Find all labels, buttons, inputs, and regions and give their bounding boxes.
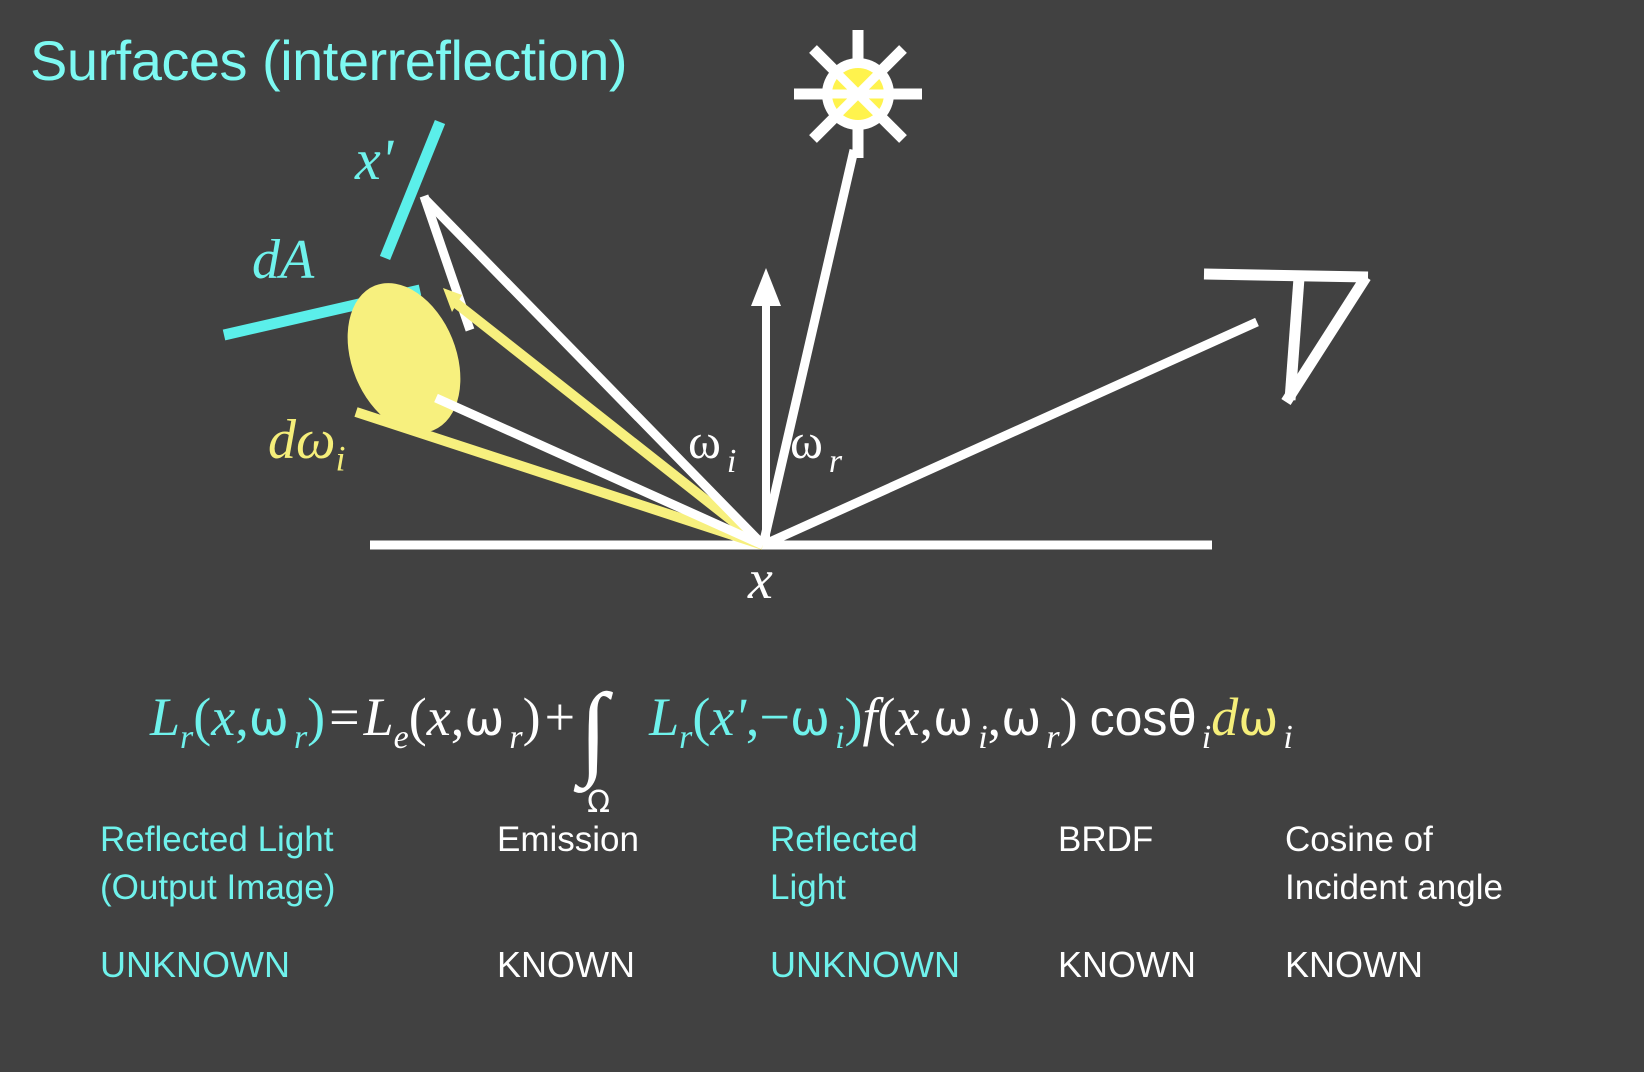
rendering-equation-diagram xyxy=(0,0,1644,1072)
label-omega-r-main: ω xyxy=(790,413,823,469)
eq-emission-L-sub: e xyxy=(394,719,409,756)
label-omega-i-main: ω xyxy=(688,413,721,469)
status-reflected-light: UNKNOWN xyxy=(770,944,960,986)
eq-lhs-x: x xyxy=(211,687,235,747)
eq-lhs-close: ) xyxy=(307,687,325,747)
eq-emission-omega: ω xyxy=(464,691,504,747)
eq-emission-L: L xyxy=(364,687,394,747)
caption-reflected-light-output: Reflected Light (Output Image) xyxy=(100,816,430,911)
label-dA: dA xyxy=(252,228,314,292)
eq-brdf-omega1-sub: i xyxy=(973,719,987,756)
eq-brdf-close: ) xyxy=(1060,687,1078,747)
eq-brdf-omega2-sub: r xyxy=(1041,719,1059,756)
eq-brdf-omega1: ω xyxy=(933,691,973,747)
eq-inrad-omega: ω xyxy=(790,691,830,747)
eq-brdf-open: ( xyxy=(878,687,896,747)
eq-plus: + xyxy=(541,687,579,747)
eq-emission-close: ) xyxy=(523,687,541,747)
eq-equals: = xyxy=(325,687,363,747)
eq-lhs-omega-sub: r xyxy=(289,719,307,756)
label-omega-i-subscript: i xyxy=(721,443,736,480)
eq-brdf-omega2: ω xyxy=(1001,691,1041,747)
eq-emission-omega-sub: r xyxy=(504,719,522,756)
eq-lhs-comma: , xyxy=(235,687,249,747)
sun-icon xyxy=(794,30,922,158)
eq-inrad-L: L xyxy=(649,687,679,747)
eq-inrad-L-sub: r xyxy=(679,719,692,756)
status-emission: KNOWN xyxy=(497,944,635,986)
label-omega-r: ωr xyxy=(790,412,842,481)
eq-emission-comma: , xyxy=(451,687,465,747)
eq-inrad-close: ) xyxy=(845,687,863,747)
integral-sign: ∫ xyxy=(579,679,608,783)
integral-domain-label: Ω xyxy=(587,785,610,820)
eq-brdf-comma2: , xyxy=(988,687,1002,747)
eq-brdf-x: x xyxy=(896,687,920,747)
eq-lhs-open: ( xyxy=(193,687,211,747)
caption-brdf: BRDF xyxy=(1058,816,1258,864)
surface-normal-arrowhead xyxy=(751,268,781,306)
status-cosine: KNOWN xyxy=(1285,944,1423,986)
rendering-equation: Lr(x,ωr)=Le(x,ωr)+∫ΩLr(x',−ωi)f(x,ωi,ωr)… xyxy=(150,686,1530,786)
eq-differential-d: d xyxy=(1211,687,1238,747)
label-d-omega-subscript: i xyxy=(336,439,346,479)
eq-inrad-open: ( xyxy=(692,687,710,747)
label-x-prime: x' xyxy=(355,126,393,193)
eq-theta: θ xyxy=(1167,691,1196,747)
label-omega-i: ωi xyxy=(688,412,736,481)
label-omega-r-subscript: r xyxy=(823,443,842,480)
status-brdf: KNOWN xyxy=(1058,944,1196,986)
ray-to-light-source xyxy=(763,150,854,545)
eq-cos: cos xyxy=(1090,690,1168,746)
eq-emission-x: x xyxy=(427,687,451,747)
eq-differential-omega-sub: i xyxy=(1278,719,1292,756)
label-d-omega-main: dω xyxy=(268,409,336,471)
eq-lhs-omega: ω xyxy=(249,691,289,747)
eq-brdf-comma1: , xyxy=(919,687,933,747)
eq-lhs-L-sub: r xyxy=(180,719,193,756)
label-x-point: x xyxy=(748,548,773,612)
caption-cosine-incident-angle: Cosine of Incident angle xyxy=(1285,816,1605,911)
eq-inrad-xprime: x' xyxy=(710,687,746,747)
eq-lhs-L: L xyxy=(150,687,180,747)
eq-theta-sub: i xyxy=(1197,719,1211,756)
eq-emission-open: ( xyxy=(409,687,427,747)
slide-canvas: Surfaces (interreflection) xyxy=(0,0,1644,1072)
status-reflected-light-output: UNKNOWN xyxy=(100,944,290,986)
xprime-pointer-line xyxy=(385,122,440,258)
eq-differential-omega: ω xyxy=(1238,691,1278,747)
eq-inrad-omega-sub: i xyxy=(830,719,844,756)
eq-inrad-minus: − xyxy=(759,687,789,747)
caption-emission: Emission xyxy=(497,816,727,864)
caption-reflected-light: Reflected Light xyxy=(770,816,990,911)
label-d-omega-i: dωi xyxy=(268,408,346,480)
eq-inrad-comma: , xyxy=(746,687,760,747)
eq-brdf-f: f xyxy=(863,687,878,747)
